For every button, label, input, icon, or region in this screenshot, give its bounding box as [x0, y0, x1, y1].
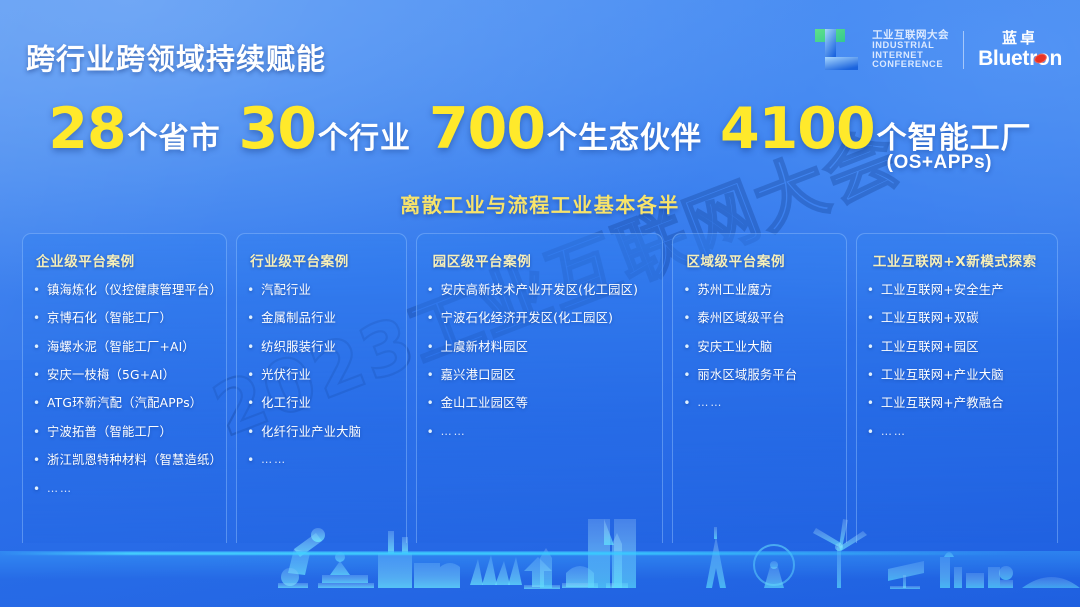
- stat-number: 30: [239, 96, 316, 162]
- list-item-label: 安庆高新技术产业开发区(化工园区): [441, 283, 638, 298]
- page-title: 跨行业跨领域持续赋能: [26, 36, 326, 78]
- bullet-icon: •: [427, 368, 434, 383]
- card-industry-platform: 行业级平台案例 •汽配行业 •金属制品行业 •纺织服装行业 •光伏行业 •化工行…: [236, 233, 407, 543]
- bullet-icon: •: [683, 283, 690, 298]
- list-item: •京博石化（智能工厂）: [33, 311, 217, 326]
- list-item-label: 宁波石化经济开发区(化工园区): [441, 311, 613, 326]
- bullet-icon: •: [33, 368, 40, 383]
- stats-note: (OS+APPs): [887, 152, 992, 174]
- stat-number: 700: [429, 96, 545, 162]
- conference-logo-text: 工业互联网大会 INDUSTRIAL INTERNET CONFERENCE: [872, 30, 949, 70]
- stat-number: 28: [48, 96, 125, 162]
- list-item-label: ……: [441, 425, 467, 439]
- conference-name-en-3: CONFERENCE: [872, 60, 949, 70]
- card-iiot-plus-x: 工业互联网+X新模式探索 •工业互联网+安全生产 •工业互联网+双碳 •工业互联…: [856, 233, 1058, 543]
- gong-mark-icon: [813, 27, 863, 73]
- list-item-label: 工业互联网+产业大脑: [881, 368, 1004, 383]
- list-item: •化纤行业产业大脑: [247, 425, 397, 440]
- cards-row: 企业级平台案例 •镇海炼化（仪控健康管理平台） •京博石化（智能工厂） •海螺水…: [22, 233, 1058, 543]
- list-item-label: 工业互联网+安全生产: [881, 283, 1004, 298]
- card-item-list: •镇海炼化（仪控健康管理平台） •京博石化（智能工厂） •海螺水泥（智能工厂+A…: [33, 283, 217, 497]
- list-item-label: 嘉兴港口园区: [441, 368, 516, 383]
- subtitle: 离散工业与流程工业基本各半: [0, 189, 1080, 218]
- list-item-label: 镇海炼化（仪控健康管理平台）: [47, 283, 217, 298]
- bullet-icon: •: [33, 482, 40, 497]
- list-item: •上虞新材料园区: [427, 340, 654, 355]
- bullet-icon: •: [867, 283, 874, 298]
- list-item-label: 汽配行业: [261, 283, 311, 298]
- list-item: •浙江凯恩特种材料（智慧造纸）: [33, 453, 217, 468]
- list-item: •工业互联网+产业大脑: [867, 368, 1048, 383]
- card-title: 园区级平台案例: [433, 250, 654, 270]
- bullet-icon: •: [33, 283, 40, 298]
- list-item-label: ……: [697, 396, 723, 410]
- bullet-icon: •: [247, 425, 254, 440]
- bullet-icon: •: [427, 425, 434, 440]
- bullet-icon: •: [867, 311, 874, 326]
- stat-unit: 个生态伙伴: [547, 113, 702, 157]
- list-item-label: 光伏行业: [261, 368, 311, 383]
- list-item-label: 安庆一枝梅（5G+AI）: [47, 368, 175, 383]
- list-item: •嘉兴港口园区: [427, 368, 654, 383]
- bullet-icon: •: [247, 340, 254, 355]
- list-item: •化工行业: [247, 396, 397, 411]
- bullet-icon: •: [867, 396, 874, 411]
- list-item: •ATG环新汽配（汽配APPs）: [33, 396, 217, 411]
- list-item-ellipsis: •……: [683, 396, 836, 411]
- list-item-label: 浙江凯恩特种材料（智慧造纸）: [47, 453, 217, 468]
- list-item: •海螺水泥（智能工厂+AI）: [33, 340, 217, 355]
- brand-name-cn: 蓝卓: [978, 31, 1062, 46]
- bullet-icon: •: [683, 396, 690, 411]
- list-item-label: ……: [47, 482, 73, 496]
- card-park-platform: 园区级平台案例 •安庆高新技术产业开发区(化工园区) •宁波石化经济开发区(化工…: [416, 233, 664, 543]
- bullet-icon: •: [33, 425, 40, 440]
- list-item-label: 金山工业园区等: [441, 396, 528, 411]
- list-item-label: 丽水区域服务平台: [697, 368, 797, 383]
- list-item-label: 海螺水泥（智能工厂+AI）: [47, 340, 195, 355]
- list-item-label: 泰州区域级平台: [697, 311, 784, 326]
- bullet-icon: •: [683, 340, 690, 355]
- list-item-ellipsis: •……: [867, 425, 1048, 440]
- bullet-icon: •: [427, 283, 434, 298]
- stat-number: 4100: [720, 96, 875, 162]
- bullet-icon: •: [867, 340, 874, 355]
- list-item: •金属制品行业: [247, 311, 397, 326]
- bullet-icon: •: [247, 283, 254, 298]
- list-item: •宁波石化经济开发区(化工园区): [427, 311, 654, 326]
- list-item: •光伏行业: [247, 368, 397, 383]
- card-regional-platform: 区域级平台案例 •苏州工业魔方 •泰州区域级平台 •安庆工业大脑 •丽水区域服务…: [672, 233, 846, 543]
- logo-zone: 工业互联网大会 INDUSTRIAL INTERNET CONFERENCE 蓝…: [813, 22, 1062, 78]
- card-item-list: •汽配行业 •金属制品行业 •纺织服装行业 •光伏行业 •化工行业 •化纤行业产…: [247, 283, 397, 468]
- list-item: •工业互联网+双碳: [867, 311, 1048, 326]
- bullet-icon: •: [683, 368, 690, 383]
- card-item-list: •苏州工业魔方 •泰州区域级平台 •安庆工业大脑 •丽水区域服务平台 •……: [683, 283, 836, 411]
- bullet-icon: •: [247, 453, 254, 468]
- list-item: •丽水区域服务平台: [683, 368, 836, 383]
- ground-plane: [0, 551, 1080, 607]
- stat-unit: 个智能工厂: [877, 113, 1032, 157]
- list-item-label: 工业互联网+双碳: [881, 311, 979, 326]
- list-item-ellipsis: •……: [427, 425, 654, 440]
- list-item-label: 纺织服装行业: [261, 340, 336, 355]
- bullet-icon: •: [867, 368, 874, 383]
- list-item: •镇海炼化（仪控健康管理平台）: [33, 283, 217, 298]
- stat-unit: 个行业: [318, 113, 411, 157]
- bullet-icon: •: [427, 311, 434, 326]
- list-item: •金山工业园区等: [427, 396, 654, 411]
- list-item: •工业互联网+安全生产: [867, 283, 1048, 298]
- list-item-label: 工业互联网+产教融合: [881, 396, 1004, 411]
- stat-item: 30个行业: [239, 96, 411, 162]
- card-enterprise-platform: 企业级平台案例 •镇海炼化（仪控健康管理平台） •京博石化（智能工厂） •海螺水…: [22, 233, 227, 543]
- bullet-icon: •: [247, 368, 254, 383]
- list-item: •苏州工业魔方: [683, 283, 836, 298]
- conference-logo: 工业互联网大会 INDUSTRIAL INTERNET CONFERENCE: [813, 27, 949, 73]
- bullet-icon: •: [427, 340, 434, 355]
- bullet-icon: •: [33, 396, 40, 411]
- bullet-icon: •: [683, 311, 690, 326]
- brand-logo: 蓝卓 Bluetron: [978, 31, 1062, 69]
- brand-name-en-text: Bluetron: [978, 47, 1062, 70]
- card-title: 工业互联网+X新模式探索: [873, 250, 1048, 270]
- logo-divider: [963, 31, 964, 69]
- list-item-label: ……: [261, 453, 287, 467]
- list-item: •宁波拓普（智能工厂）: [33, 425, 217, 440]
- card-title: 行业级平台案例: [250, 250, 397, 270]
- bullet-icon: •: [247, 311, 254, 326]
- brand-name-en: Bluetron: [978, 48, 1062, 69]
- slide-root: 2023工业互联网大会 跨行业跨领域持续赋能: [0, 0, 1080, 607]
- list-item-label: ATG环新汽配（汽配APPs）: [47, 396, 202, 411]
- list-item-label: 上虞新材料园区: [441, 340, 528, 355]
- list-item-label: 宁波拓普（智能工厂）: [47, 425, 172, 440]
- bullet-icon: •: [33, 311, 40, 326]
- list-item: •工业互联网+园区: [867, 340, 1048, 355]
- list-item-label: 化工行业: [261, 396, 311, 411]
- list-item: •安庆一枝梅（5G+AI）: [33, 368, 217, 383]
- stat-item: 700个生态伙伴: [429, 96, 702, 162]
- list-item-label: 安庆工业大脑: [697, 340, 772, 355]
- card-item-list: •安庆高新技术产业开发区(化工园区) •宁波石化经济开发区(化工园区) •上虞新…: [427, 283, 654, 440]
- list-item-label: 苏州工业魔方: [697, 283, 772, 298]
- list-item-label: 金属制品行业: [261, 311, 336, 326]
- list-item: •安庆高新技术产业开发区(化工园区): [427, 283, 654, 298]
- list-item: •工业互联网+产教融合: [867, 396, 1048, 411]
- list-item: •汽配行业: [247, 283, 397, 298]
- bullet-icon: •: [33, 340, 40, 355]
- list-item-label: 化纤行业产业大脑: [261, 425, 361, 440]
- bullet-icon: •: [427, 396, 434, 411]
- stat-unit: 个省市: [128, 113, 221, 157]
- card-title: 企业级平台案例: [36, 250, 217, 270]
- list-item-ellipsis: •……: [33, 482, 217, 497]
- list-item-label: 京博石化（智能工厂）: [47, 311, 172, 326]
- list-item-ellipsis: •……: [247, 453, 397, 468]
- list-item: •安庆工业大脑: [683, 340, 836, 355]
- bullet-icon: •: [33, 453, 40, 468]
- list-item: •纺织服装行业: [247, 340, 397, 355]
- card-title: 区域级平台案例: [686, 250, 836, 270]
- bullet-icon: •: [247, 396, 254, 411]
- list-item-label: 工业互联网+园区: [881, 340, 979, 355]
- card-item-list: •工业互联网+安全生产 •工业互联网+双碳 •工业互联网+园区 •工业互联网+产…: [867, 283, 1048, 440]
- list-item: •泰州区域级平台: [683, 311, 836, 326]
- bullet-icon: •: [867, 425, 874, 440]
- stat-item: 28个省市: [48, 96, 220, 162]
- list-item-label: ……: [881, 425, 907, 439]
